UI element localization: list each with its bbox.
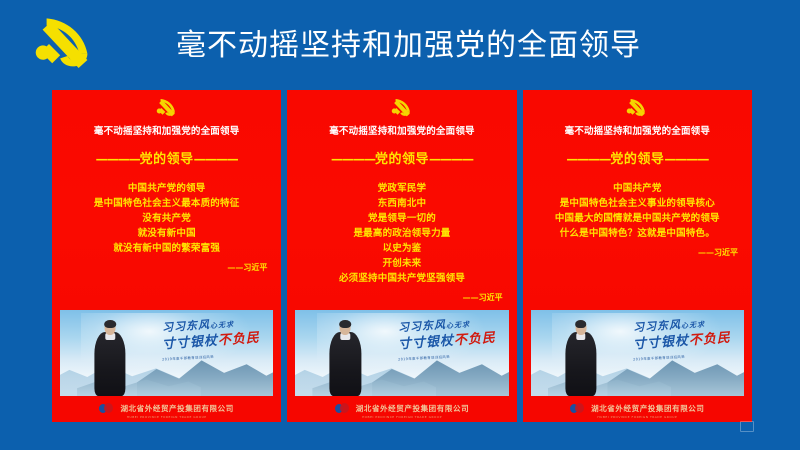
card-body-line: 什么是中国特色？这就是中国特色。 [531,226,744,241]
calligraphy-text: 习习东风心无求 寸寸银杖不负民 2019年度干部教育培训班风采 [633,319,731,367]
calligraphy-caption: 2019年度干部教育培训班风采 [633,351,731,361]
calligraphy-line1-small: 心无求 [446,320,470,330]
card-attribution: ——习近平 [295,292,508,303]
card-body: 中国共产党的领导 是中国特色社会主义最本质的特征 没有共产党 就没有新中国 就没… [60,181,273,256]
calligraphy-line1: 习习东风 [633,318,682,334]
card-body-line: 必须坚持中国共产党坚强领导 [295,271,508,286]
card-body-line: 就没有新中国 [60,226,273,241]
card-subtitle: ————党的领导———— [295,150,508,169]
hammer-and-sickle-icon [60,96,273,122]
card-body-line: 就没有新中国的繁荣富强 [60,241,273,256]
cards-row: 毫不动摇坚持和加强党的全面领导 ————党的领导———— 中国共产党的领导 是中… [52,90,752,422]
card-subtitle-dash-right: ———— [429,152,473,166]
card-body-line: 中国共产党 [531,181,744,196]
company-logo-icon [570,403,586,414]
card-body-line: 是中国特色社会主义事业的领导核心 [531,196,744,211]
calligraphy-line1-small: 心无求 [210,320,234,330]
leader-figure [92,320,128,396]
calligraphy-line2-prefix: 寸寸银杖 [162,333,219,352]
calligraphy-line2-red: 不负民 [689,330,732,348]
card-subtitle-text: 党的领导 [140,152,194,167]
card-heading: 毫不动摇坚持和加强党的全面领导 [531,125,744,139]
card-heading: 毫不动摇坚持和加强党的全面领导 [295,125,508,139]
company-logo-icon [99,403,115,414]
card-body-line: 以史为鉴 [295,241,508,256]
calligraphy-line2-prefix: 寸寸银杖 [397,333,454,352]
card-subtitle-dash-right: ———— [194,152,238,166]
card-body-line: 没有共产党 [60,211,273,226]
calligraphy-line1: 习习东风 [397,318,446,334]
card-body-line: 中国最大的国情就是中国共产党的领导 [531,211,744,226]
card-body-line: 党是领导一切的 [295,211,508,226]
calligraphy-text: 习习东风心无求 寸寸银杖不负民 2019年度干部教育培训班风采 [398,319,496,367]
calligraphy-text: 习习东风心无求 寸寸银杖不负民 2019年度干部教育培训班风采 [162,319,260,367]
card-footer: 湖北省外经贸产投集团有限公司 HUBEI PROVINCE FOREIGN TR… [295,398,508,418]
slide-header: 毫不动摇坚持和加强党的全面领导 [0,0,800,88]
slide-root: 毫不动摇坚持和加强党的全面领导 毫不动摇坚持和 [0,0,800,450]
company-name: 湖北省外经贸产投集团有限公司 [591,403,704,414]
calligraphy-caption: 2019年度干部教育培训班风采 [162,351,260,361]
card-attribution: ——习近平 [531,247,744,258]
photo-banner: 习习东风心无求 寸寸银杖不负民 2019年度干部教育培训班风采 [531,310,744,396]
hammer-and-sickle-icon [295,96,508,122]
card-footer: 湖北省外经贸产投集团有限公司 HUBEI PROVINCE FOREIGN TR… [60,398,273,418]
card-footer: 湖北省外经贸产投集团有限公司 HUBEI PROVINCE FOREIGN TR… [531,398,744,418]
card-body: 党政军民学 东西南北中 党是领导一切的 是最高的政治领导力量 以史为鉴 开创未来… [295,181,508,286]
content-card[interactable]: 毫不动摇坚持和加强党的全面领导 ————党的领导———— 中国共产党的领导 是中… [52,90,281,422]
calligraphy-line2-prefix: 寸寸银杖 [633,333,690,352]
card-subtitle: ————党的领导———— [60,150,273,169]
card-subtitle-dash-left: ———— [331,152,375,166]
photo-banner: 习习东风心无求 寸寸银杖不负民 2019年度干部教育培训班风采 [60,310,273,396]
card-body-line: 是最高的政治领导力量 [295,226,508,241]
company-name-sub: HUBEI PROVINCE FOREIGN TRADE GROUP [60,415,273,419]
card-subtitle-dash-right: ———— [664,152,708,166]
photo-banner: 习习东风心无求 寸寸银杖不负民 2019年度干部教育培训班风采 [295,310,508,396]
card-body: 中国共产党 是中国特色社会主义事业的领导核心 中国最大的国情就是中国共产党的领导… [531,181,744,241]
calligraphy-caption: 2019年度干部教育培训班风采 [398,351,496,361]
hammer-and-sickle-icon [22,12,108,76]
leader-figure [327,320,363,396]
card-body-line: 东西南北中 [295,196,508,211]
calligraphy-line2-red: 不负民 [453,330,496,348]
calligraphy-line2-red: 不负民 [218,330,261,348]
card-subtitle-dash-left: ———— [566,152,610,166]
card-heading: 毫不动摇坚持和加强党的全面领导 [60,125,273,139]
company-logo-icon [335,403,351,414]
company-name-sub: HUBEI PROVINCE FOREIGN TRADE GROUP [295,415,508,419]
hammer-and-sickle-icon [531,96,744,122]
card-subtitle-dash-left: ———— [96,152,140,166]
leader-figure [563,320,599,396]
company-name: 湖北省外经贸产投集团有限公司 [120,403,233,414]
content-card[interactable]: 毫不动摇坚持和加强党的全面领导 ————党的领导———— 党政军民学 东西南北中… [287,90,516,422]
calligraphy-line1: 习习东风 [162,318,211,334]
card-subtitle-text: 党的领导 [375,152,429,167]
calligraphy-line1-small: 心无求 [681,320,705,330]
page-title: 毫不动摇坚持和加强党的全面领导 [176,24,641,68]
slide-watermark [740,421,754,432]
card-body-line: 党政军民学 [295,181,508,196]
company-name-sub: HUBEI PROVINCE FOREIGN TRADE GROUP [531,415,744,419]
card-body-line: 是中国特色社会主义最本质的特征 [60,196,273,211]
card-subtitle-text: 党的领导 [610,152,664,167]
card-subtitle: ————党的领导———— [531,150,744,169]
card-body-line: 开创未来 [295,256,508,271]
card-body-line: 中国共产党的领导 [60,181,273,196]
card-attribution: ——习近平 [60,262,273,273]
content-card[interactable]: 毫不动摇坚持和加强党的全面领导 ————党的领导———— 中国共产党 是中国特色… [523,90,752,422]
company-name: 湖北省外经贸产投集团有限公司 [356,403,469,414]
